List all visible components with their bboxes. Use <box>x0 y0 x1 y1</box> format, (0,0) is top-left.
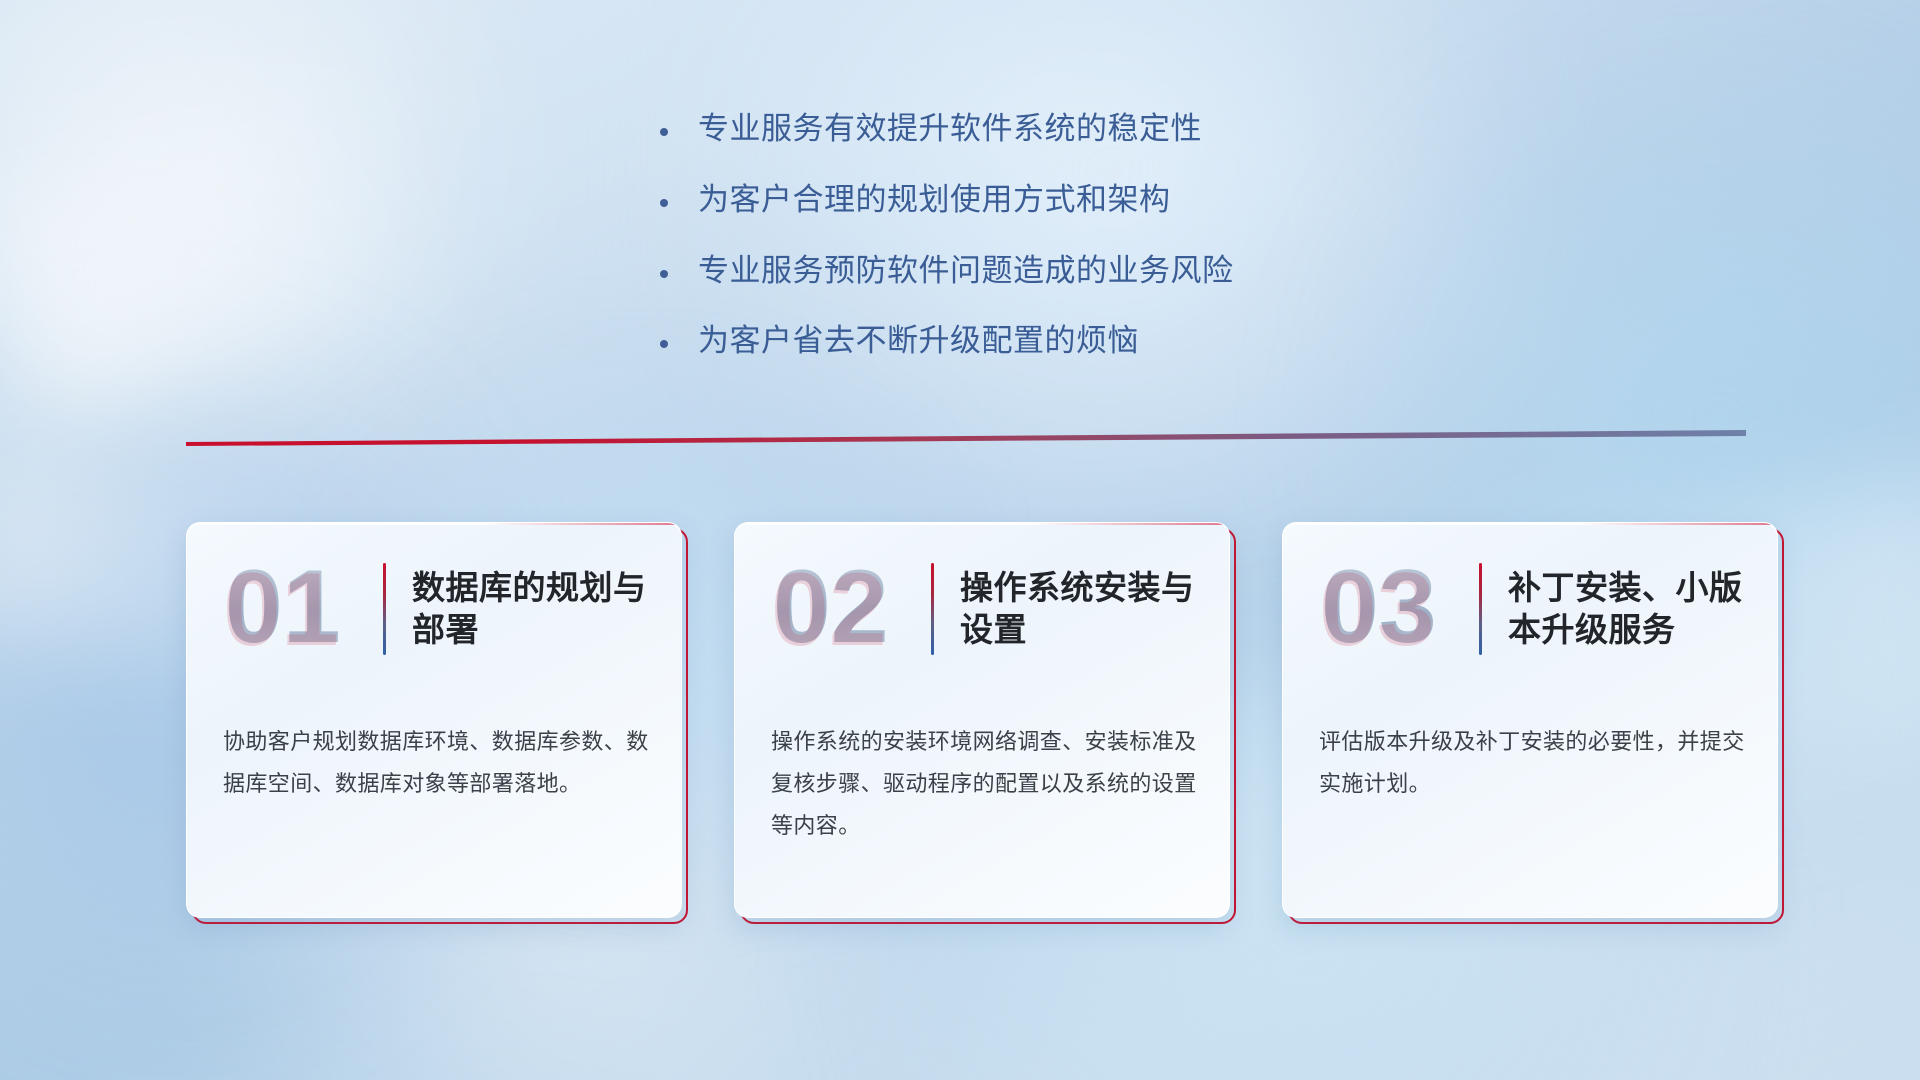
benefits-bullet-list: 专业服务有效提升软件系统的稳定性 为客户合理的规划使用方式和架构 专业服务预防软… <box>660 110 1480 393</box>
card-title: 数据库的规划与部署 <box>412 567 662 651</box>
list-item: 专业服务预防软件问题造成的业务风险 <box>660 252 1480 291</box>
card-surface: 03 03 补丁安装、小版本升级服务 评估版本升级及补丁安装的必要性，并提交实施… <box>1282 522 1778 918</box>
service-card[interactable]: 02 02 操作系统安装与设置 操作系统的安装环境网络调查、安装标准及复核步骤、… <box>734 522 1230 918</box>
bullet-dot-icon <box>660 128 668 136</box>
bullet-dot-icon <box>660 199 668 207</box>
card-number-watermark: 03 03 <box>1317 554 1467 664</box>
card-surface: 02 02 操作系统安装与设置 操作系统的安装环境网络调查、安装标准及复核步骤、… <box>734 522 1230 918</box>
card-title-divider <box>931 563 934 655</box>
list-item: 为客户省去不断升级配置的烦恼 <box>660 322 1480 361</box>
svg-text:01: 01 <box>223 554 339 664</box>
bullet-label: 专业服务有效提升软件系统的稳定性 <box>698 110 1202 149</box>
card-title: 补丁安装、小版本升级服务 <box>1508 567 1758 651</box>
card-header: 02 02 操作系统安装与设置 <box>735 523 1229 695</box>
service-card-list: 01 01 数据库的规划与部署 协助客户规划数据库环境、数据库参数、数据库空间、… <box>186 522 1778 918</box>
service-card[interactable]: 03 03 补丁安装、小版本升级服务 评估版本升级及补丁安装的必要性，并提交实施… <box>1282 522 1778 918</box>
bullet-label: 为客户省去不断升级配置的烦恼 <box>698 322 1139 361</box>
bullet-dot-icon <box>660 340 668 348</box>
list-item: 为客户合理的规划使用方式和架构 <box>660 181 1480 220</box>
card-surface: 01 01 数据库的规划与部署 协助客户规划数据库环境、数据库参数、数据库空间、… <box>186 522 682 918</box>
svg-text:03: 03 <box>1319 554 1435 664</box>
bullet-label: 为客户合理的规划使用方式和架构 <box>698 181 1171 220</box>
bullet-label: 专业服务预防软件问题造成的业务风险 <box>698 252 1234 291</box>
card-description: 协助客户规划数据库环境、数据库参数、数据库空间、数据库对象等部署落地。 <box>223 721 651 805</box>
card-title: 操作系统安装与设置 <box>960 567 1210 651</box>
card-header: 03 03 补丁安装、小版本升级服务 <box>1283 523 1777 695</box>
card-title-divider <box>383 563 386 655</box>
card-number-watermark: 01 01 <box>221 554 371 664</box>
svg-text:02: 02 <box>771 554 887 664</box>
card-title-divider <box>1479 563 1482 655</box>
card-header: 01 01 数据库的规划与部署 <box>187 523 681 695</box>
card-description: 评估版本升级及补丁安装的必要性，并提交实施计划。 <box>1319 721 1747 805</box>
bullet-dot-icon <box>660 270 668 278</box>
card-description: 操作系统的安装环境网络调查、安装标准及复核步骤、驱动程序的配置以及系统的设置等内… <box>771 721 1199 848</box>
service-card[interactable]: 01 01 数据库的规划与部署 协助客户规划数据库环境、数据库参数、数据库空间、… <box>186 522 682 918</box>
section-divider <box>186 430 1746 450</box>
card-number-watermark: 02 02 <box>769 554 919 664</box>
list-item: 专业服务有效提升软件系统的稳定性 <box>660 110 1480 149</box>
